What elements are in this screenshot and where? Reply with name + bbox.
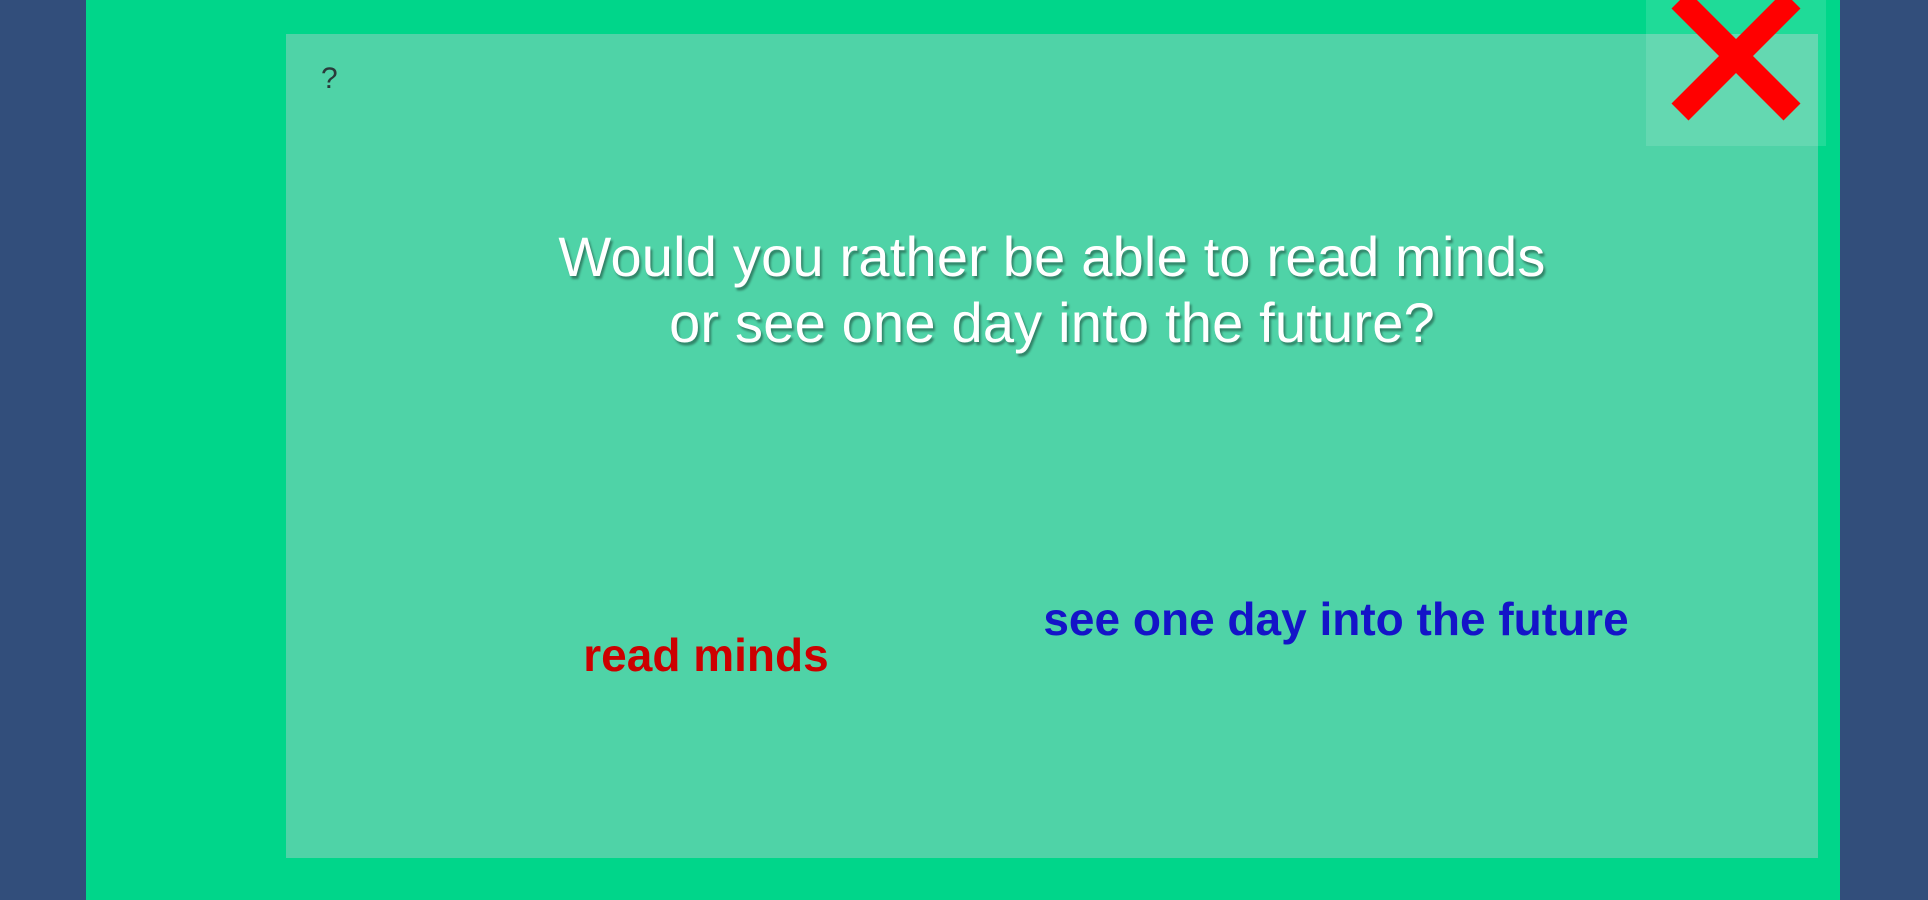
question-line-2: or see one day into the future?: [406, 290, 1698, 356]
question-prompt: Would you rather be able to read minds o…: [286, 224, 1818, 356]
options-row: read minds see one day into the future: [286, 594, 1818, 774]
screen: ? Would you rather be able to read minds…: [0, 0, 1928, 900]
page-gutter-right: [1840, 0, 1928, 900]
app-frame: ? Would you rather be able to read minds…: [86, 0, 1840, 900]
question-card: ? Would you rather be able to read minds…: [286, 34, 1818, 858]
option-see-one-day-into-the-future[interactable]: see one day into the future: [986, 594, 1686, 646]
question-line-1: Would you rather be able to read minds: [406, 224, 1698, 290]
help-question-mark: ?: [321, 64, 338, 94]
option-read-minds[interactable]: read minds: [466, 630, 946, 682]
close-x-icon: [1646, 0, 1826, 146]
close-button[interactable]: [1646, 0, 1826, 146]
page-gutter-left: [0, 0, 86, 900]
